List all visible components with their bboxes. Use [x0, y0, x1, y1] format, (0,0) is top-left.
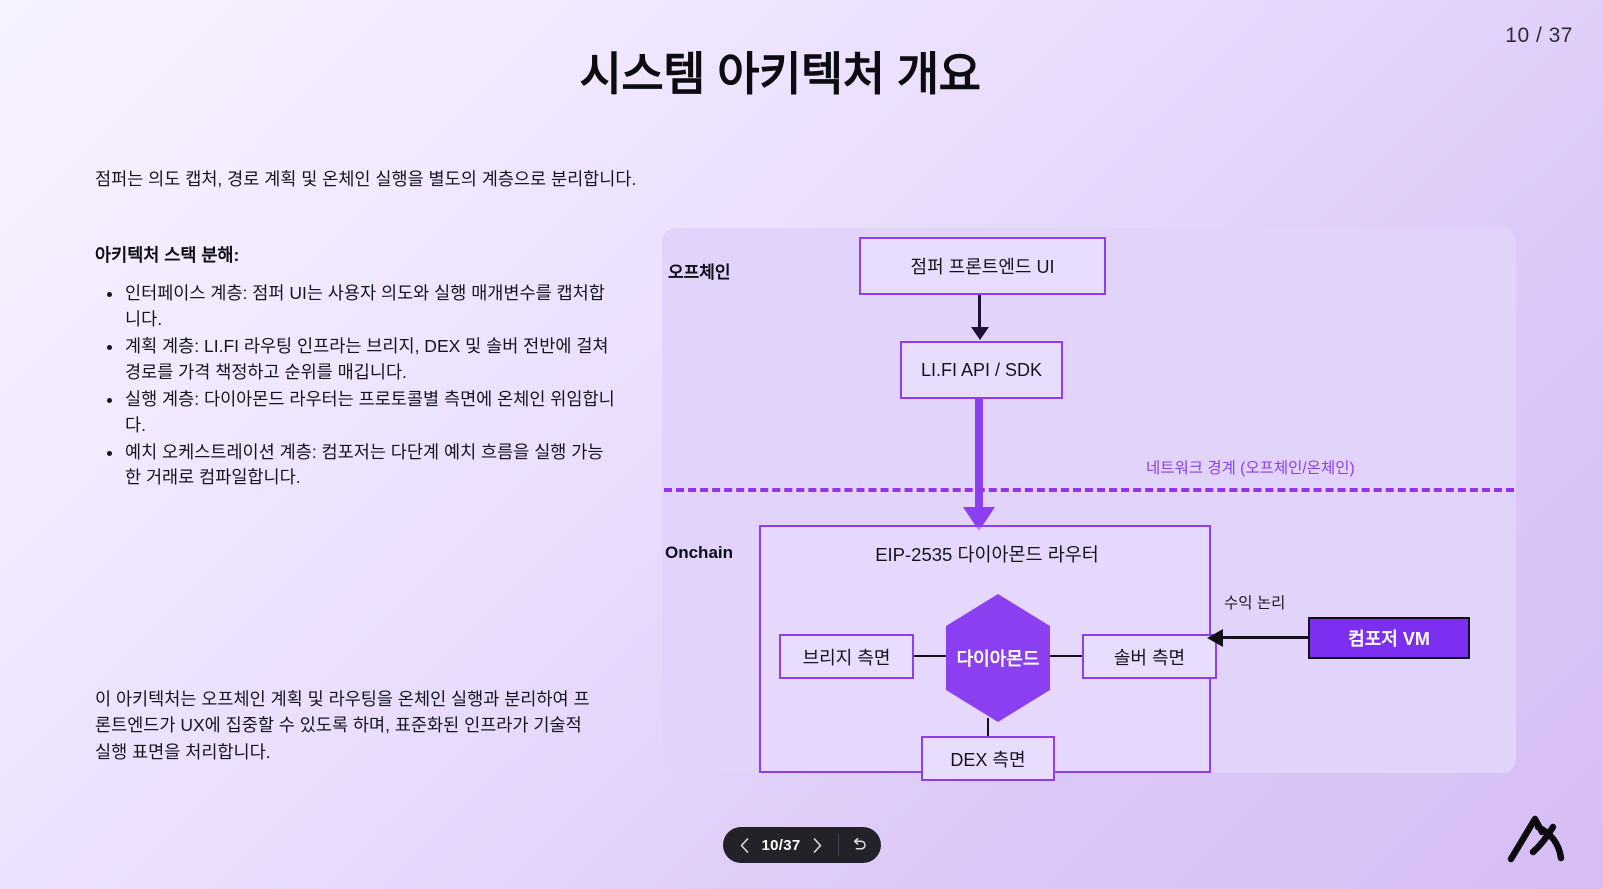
- list-item: 계획 계층: LI.FI 라우팅 인프라는 브리지, DEX 및 솔버 전반에 …: [123, 334, 615, 386]
- summary-paragraph: 이 아키텍처는 오프체인 계획 및 라우팅을 온체인 실행과 분리하여 프론트엔…: [95, 686, 595, 765]
- slide-navigation-bar[interactable]: 10/37: [722, 827, 880, 863]
- connector-bridge-icon: [914, 655, 947, 657]
- onchain-zone-label: Onchain: [665, 543, 733, 563]
- arrow-lifi-to-onchain-icon: [975, 399, 983, 509]
- intro-paragraph: 점퍼는 의도 캡처, 경로 계획 및 온체인 실행을 별도의 계층으로 분리합니…: [95, 166, 615, 192]
- arrow-frontend-to-lifi-icon: [978, 295, 981, 329]
- list-item: 인터페이스 계층: 점퍼 UI는 사용자 의도와 실행 매개변수를 캡처합니다.: [123, 281, 615, 333]
- list-item: 실행 계층: 다이아몬드 라우터는 프로토콜별 측면에 온체인 위임합니다.: [123, 387, 615, 439]
- left-content-column: 점퍼는 의도 캡처, 경로 계획 및 온체인 실행을 별도의 계층으로 분리합니…: [95, 166, 615, 492]
- composer-edge-label: 수익 논리: [1224, 591, 1285, 613]
- stack-breakdown-list: 인터페이스 계층: 점퍼 UI는 사용자 의도와 실행 매개변수를 캡처합니다.…: [95, 281, 615, 491]
- node-jumper-frontend-ui: 점퍼 프론트엔드 UI: [859, 237, 1106, 295]
- offchain-zone-label: 오프체인: [668, 258, 731, 283]
- connector-solver-icon: [1049, 655, 1083, 657]
- network-boundary-label: 네트워크 경계 (오프체인/온체인): [1146, 456, 1355, 478]
- node-lifi-api-sdk: LI.FI API / SDK: [900, 341, 1063, 399]
- node-composer-vm: 컴포저 VM: [1308, 617, 1470, 659]
- list-item: 예치 오케스트레이션 계층: 컴포저는 다단계 예치 흐름을 실행 가능한 거래…: [123, 440, 615, 492]
- network-boundary-divider: [664, 488, 1514, 492]
- connector-dex-icon: [987, 718, 989, 737]
- node-diamond-hexagon: 다이아몬드: [946, 594, 1050, 722]
- chevron-left-icon[interactable]: [730, 831, 758, 859]
- onchain-container: EIP-2535 다이아몬드 라우터 다이아몬드 브리지 측면 솔버 측면 DE…: [759, 525, 1211, 773]
- undo-icon[interactable]: [845, 831, 873, 859]
- nav-page-indicator: 10/37: [758, 837, 803, 854]
- node-bridge-facet: 브리지 측면: [779, 634, 914, 679]
- nav-divider: [838, 834, 839, 856]
- arrow-composer-to-solver-icon: [1222, 636, 1308, 639]
- stack-breakdown-heading: 아키텍처 스택 분해:: [95, 242, 615, 267]
- architecture-diagram-panel: 오프체인 Onchain 점퍼 프론트엔드 UI LI.FI API / SDK…: [662, 228, 1516, 773]
- node-dex-facet: DEX 측면: [921, 736, 1055, 781]
- onchain-router-title: EIP-2535 다이아몬드 라우터: [761, 541, 1213, 567]
- brand-logo-icon: [1507, 811, 1569, 863]
- node-solver-facet: 솔버 측면: [1082, 634, 1217, 679]
- chevron-right-icon[interactable]: [804, 831, 832, 859]
- page-title: 시스템 아키텍처 개요: [0, 38, 1560, 104]
